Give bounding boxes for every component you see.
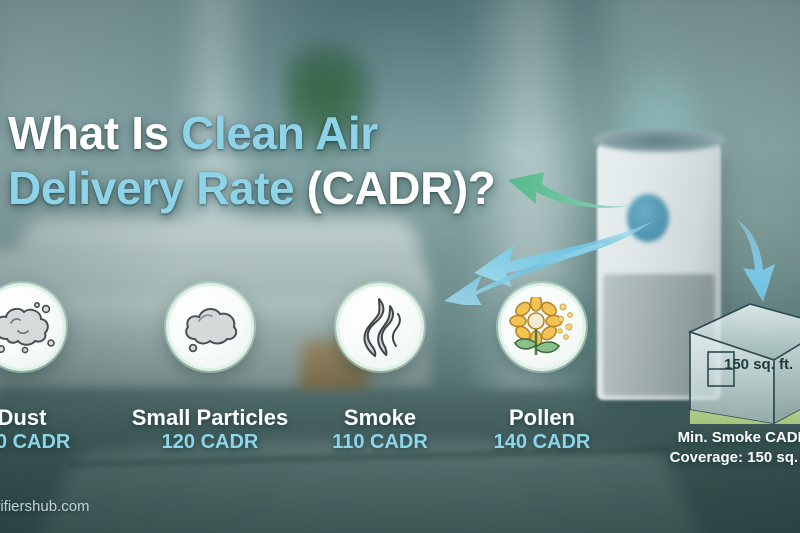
pollutant-icon-smoke[interactable] [320,283,440,371]
title-part-delivery-rate: Delivery Rate [8,162,307,214]
label-pollen-name: Pollen [462,405,622,430]
label-pollen: Pollen 140 CADR [462,405,622,455]
coverage-arrow-down [735,218,795,308]
coverage-caption-line-1: Min. Smoke CADR [648,428,800,448]
label-smoke-name: Smoke [300,405,460,430]
coverage-caption-line-2: Coverage: 150 sq. ft. [648,448,800,468]
pollutant-icons-row [0,283,640,408]
label-dust-name: Dust [0,405,102,430]
pollutant-icon-dust[interactable] [0,283,82,371]
particles-cloud-icon [166,283,254,371]
pollutant-labels-row: Dust 120 CADR Small Particles 120 CADR S… [0,405,640,465]
site-watermark: airpurifiershub.com [0,498,90,515]
title-part-cadr: (CADR)? [307,162,496,214]
infographic-canvas: Dust 120 CADR Small Particles 120 CADR S… [0,0,800,533]
label-dust-cadr: 120 CADR [0,430,102,455]
title-line-2: Delivery Rate (CADR)? [8,159,528,218]
label-small-particles-name: Small Particles [130,405,290,430]
label-smoke: Smoke 110 CADR [300,405,460,455]
coverage-room-box: 150 sq. ft. [684,300,800,425]
pollen-flower-icon [498,283,586,371]
label-pollen-cadr: 140 CADR [462,430,622,455]
smoke-swirl-icon [336,283,424,371]
title-part-what-is: What Is [8,107,181,159]
label-small-particles: Small Particles 120 CADR [130,405,290,455]
label-small-particles-cadr: 120 CADR [130,430,290,455]
page-title: What Is Clean Air Delivery Rate (CADR)? [8,104,528,218]
dust-cloud-icon [0,283,66,371]
title-line-1: What Is Clean Air [8,104,528,163]
title-part-clean-air: Clean Air [181,107,378,159]
coverage-box-label: 150 sq. ft. [724,356,793,373]
coverage-caption: Min. Smoke CADR Coverage: 150 sq. ft. [648,428,800,469]
pollutant-icon-small-particles[interactable] [150,283,270,371]
label-smoke-cadr: 110 CADR [300,430,460,455]
label-dust: Dust 120 CADR [0,405,102,455]
purifier-top-vent [593,128,725,152]
pollutant-icon-pollen[interactable] [482,283,602,371]
